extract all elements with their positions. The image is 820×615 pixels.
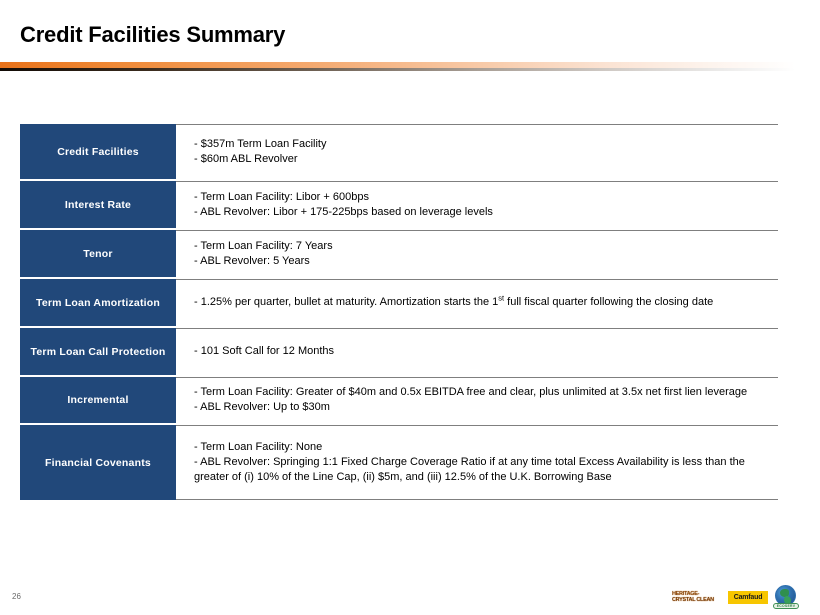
table-row: Financial Covenants - Term Loan Facility…: [20, 425, 780, 500]
row-label-tenor: Tenor: [20, 230, 176, 277]
globe-logo: ECOSERV: [772, 584, 800, 610]
row-content-term-loan-call-protection: - 101 Soft Call for 12 Months: [176, 328, 780, 375]
content-line: - ABL Revolver: Springing 1:1 Fixed Char…: [194, 455, 780, 485]
content-line: - Term Loan Facility: None: [194, 440, 780, 455]
content-line: - ABL Revolver: 5 Years: [194, 254, 780, 269]
camfaud-logo: Camfaud: [728, 591, 768, 604]
globe-logo-band: ECOSERV: [773, 603, 799, 609]
content-line: - 1.25% per quarter, bullet at maturity.…: [194, 295, 780, 310]
camfaud-logo-text: Camfaud: [734, 594, 763, 601]
row-label-credit-facilities: Credit Facilities: [20, 124, 176, 179]
header-divider: [0, 62, 820, 72]
row-content-term-loan-amortization: - 1.25% per quarter, bullet at maturity.…: [176, 279, 780, 326]
row-content-financial-covenants: - Term Loan Facility: None - ABL Revolve…: [176, 425, 780, 500]
heritage-crystal-clean-logo: HERITAGE- CRYSTAL CLEAN: [672, 590, 724, 605]
content-line: - $357m Term Loan Facility: [194, 137, 780, 152]
page-title: Credit Facilities Summary: [20, 22, 285, 48]
table-row: Interest Rate - Term Loan Facility: Libo…: [20, 181, 780, 228]
globe-logo-band-text: ECOSERV: [777, 604, 796, 608]
row-label-term-loan-amortization: Term Loan Amortization: [20, 279, 176, 326]
row-content-incremental: - Term Loan Facility: Greater of $40m an…: [176, 377, 780, 423]
table-row: Term Loan Call Protection - 101 Soft Cal…: [20, 328, 780, 375]
row-label-financial-covenants: Financial Covenants: [20, 425, 176, 500]
row-content-interest-rate: - Term Loan Facility: Libor + 600bps - A…: [176, 181, 780, 228]
content-line: - ABL Revolver: Up to $30m: [194, 400, 780, 415]
table-row: Tenor - Term Loan Facility: 7 Years - AB…: [20, 230, 780, 277]
table-row: Term Loan Amortization - 1.25% per quart…: [20, 279, 780, 326]
row-content-credit-facilities: - $357m Term Loan Facility - $60m ABL Re…: [176, 124, 780, 179]
content-line: - 101 Soft Call for 12 Months: [194, 344, 780, 359]
credit-facilities-table: Credit Facilities - $357m Term Loan Faci…: [20, 124, 780, 502]
row-label-incremental: Incremental: [20, 377, 176, 423]
row-label-term-loan-call-protection: Term Loan Call Protection: [20, 328, 176, 375]
content-line: - ABL Revolver: Libor + 175-225bps based…: [194, 205, 780, 220]
content-line: - Term Loan Facility: Libor + 600bps: [194, 190, 780, 205]
page-number: 26: [12, 592, 21, 601]
table-row: Credit Facilities - $357m Term Loan Faci…: [20, 124, 780, 179]
footer-logos: HERITAGE- CRYSTAL CLEAN Camfaud ECOSERV: [672, 583, 812, 611]
content-line: - Term Loan Facility: Greater of $40m an…: [194, 385, 780, 400]
content-line: - $60m ABL Revolver: [194, 152, 780, 167]
header-divider-shadow-band: [0, 68, 820, 71]
table-row: Incremental - Term Loan Facility: Greate…: [20, 377, 780, 423]
row-label-interest-rate: Interest Rate: [20, 181, 176, 228]
row-content-tenor: - Term Loan Facility: 7 Years - ABL Revo…: [176, 230, 780, 277]
heritage-logo-line2: CRYSTAL CLEAN: [672, 597, 724, 603]
content-line: - Term Loan Facility: 7 Years: [194, 239, 780, 254]
